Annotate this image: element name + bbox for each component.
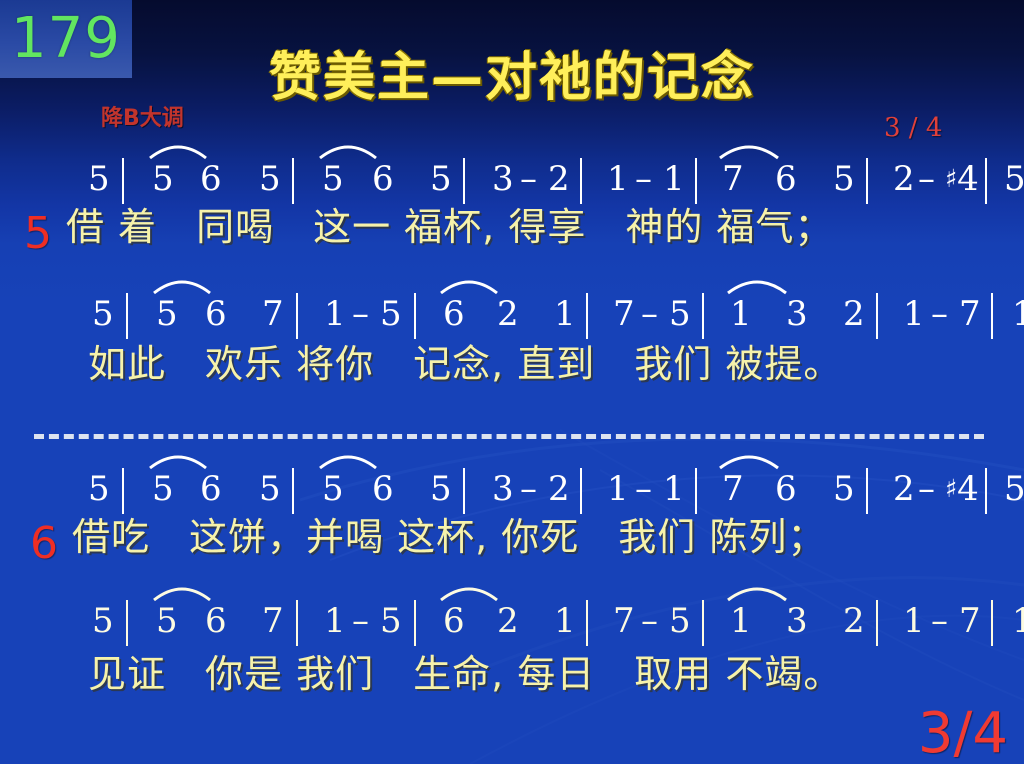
note-glyph: 2 (843, 601, 865, 641)
barline (702, 293, 704, 348)
note-glyph: 7 (959, 601, 981, 641)
note-glyph: 7 (613, 601, 635, 641)
note-1: 1 (324, 293, 346, 335)
note-2: 2 (497, 293, 519, 335)
note-glyph: 6 (200, 159, 222, 199)
note-1: 1 (730, 293, 752, 335)
barline (296, 600, 298, 655)
note-2: 2 (893, 468, 915, 510)
note-5: 5 (88, 468, 110, 510)
barline (985, 468, 987, 523)
note-glyph: 6 (372, 159, 394, 199)
slur-arc (318, 138, 378, 160)
duration-dash: – (352, 293, 369, 335)
note-glyph: 1 (663, 469, 685, 509)
barline (866, 158, 868, 213)
slur-arc (439, 273, 499, 295)
note-5: 5 (92, 600, 114, 642)
barline (586, 600, 588, 655)
barline (991, 293, 993, 348)
duration-dash: – (918, 468, 935, 510)
note-5: 5 (430, 468, 452, 510)
note-6: 6 (372, 158, 394, 200)
note-glyph: 3 (492, 469, 514, 509)
note-glyph: 5 (1004, 469, 1024, 509)
note-glyph: 4 (957, 469, 979, 509)
note-5: 5 (152, 158, 174, 200)
note-glyph: 3 (492, 159, 514, 199)
note-glyph: 1 (663, 159, 685, 199)
time-signature-top: 3 / 4 (884, 115, 942, 141)
note-6: 6 (775, 158, 797, 200)
barline (126, 600, 128, 655)
note-1: 1 (607, 158, 629, 200)
slur-arc (152, 273, 212, 295)
note-7: 7 (959, 600, 981, 642)
note-glyph: 5 (92, 294, 114, 334)
note-glyph: 1 (607, 469, 629, 509)
duration-dash: – (641, 293, 658, 335)
note-2: 2 (843, 293, 865, 335)
section-divider (34, 434, 984, 439)
note-sharp4: ♯4 (945, 468, 979, 510)
note-1: 1 (663, 158, 685, 200)
note-6: 6 (200, 468, 222, 510)
note-1: 1 (324, 600, 346, 642)
note-5: 5 (833, 158, 855, 200)
lyrics-row: 借吃 这饼，并喝 这杯, 你死 我们 陈列； (72, 518, 1022, 556)
note-glyph: 5 (88, 469, 110, 509)
barline (876, 600, 878, 655)
note-glyph: 7 (722, 159, 744, 199)
note-5: 5 (430, 158, 452, 200)
note-7: 7 (262, 293, 284, 335)
barline (866, 468, 868, 523)
note-7: 7 (613, 293, 635, 335)
note-5: 5 (669, 600, 691, 642)
note-glyph: 1 (730, 294, 752, 334)
note-7: 7 (959, 293, 981, 335)
note-5: 5 (669, 293, 691, 335)
note-glyph: 1 (324, 294, 346, 334)
note-glyph: 1 (1012, 294, 1024, 334)
note-5: 5 (1004, 158, 1024, 200)
duration-dash: – (635, 468, 652, 510)
note-glyph: 1 (554, 601, 576, 641)
note-5: 5 (259, 158, 281, 200)
barline (126, 293, 128, 348)
note-glyph: 1 (1012, 601, 1024, 641)
note-glyph: 5 (92, 601, 114, 641)
note-glyph: 7 (722, 469, 744, 509)
slur-arc (148, 448, 208, 470)
note-5: 5 (92, 293, 114, 335)
note-5: 5 (1004, 468, 1024, 510)
barline (876, 293, 878, 348)
note-glyph: 6 (775, 469, 797, 509)
note-glyph: 5 (156, 601, 178, 641)
note-glyph: 6 (205, 294, 227, 334)
note-1: 1 (1012, 293, 1024, 335)
duration-dash: – (352, 600, 369, 642)
note-glyph: 6 (443, 601, 465, 641)
note-glyph: 5 (380, 601, 402, 641)
note-6: 6 (775, 468, 797, 510)
note-glyph: 5 (430, 159, 452, 199)
note-glyph: 7 (613, 294, 635, 334)
note-glyph: 5 (152, 159, 174, 199)
note-glyph: 5 (669, 601, 691, 641)
note-5: 5 (152, 468, 174, 510)
duration-dash: – (635, 158, 652, 200)
slur-arc (726, 580, 788, 602)
note-3: 3 (492, 158, 514, 200)
note-glyph: 2 (893, 469, 915, 509)
note-glyph: 5 (259, 469, 281, 509)
duration-dash: – (918, 158, 935, 200)
note-1: 1 (554, 293, 576, 335)
note-5: 5 (259, 468, 281, 510)
note-5: 5 (322, 158, 344, 200)
note-glyph: 4 (957, 159, 979, 199)
note-6: 6 (443, 600, 465, 642)
note-1: 1 (903, 600, 925, 642)
barline (702, 600, 704, 655)
slide-canvas: 179 赞美主—对祂的记念 降B大调 3 / 4 555655653–21–17… (0, 0, 1024, 764)
lyrics-row: 如此 欢乐 将你 记念, 直到 我们 被提。 (88, 345, 1024, 383)
note-2: 2 (548, 468, 570, 510)
lyrics-row: 见证 你是 我们 生命, 每日 取用 不竭。 (88, 655, 1024, 693)
slur-arc (726, 273, 788, 295)
note-glyph: 2 (497, 294, 519, 334)
barline (414, 600, 416, 655)
barline (296, 293, 298, 348)
note-2: 2 (548, 158, 570, 200)
note-glyph: 7 (262, 601, 284, 641)
note-5: 5 (88, 158, 110, 200)
duration-dash: – (520, 468, 537, 510)
note-glyph: 5 (259, 159, 281, 199)
barline (991, 600, 993, 655)
note-glyph: 6 (205, 601, 227, 641)
note-glyph: 5 (380, 294, 402, 334)
note-5: 5 (156, 600, 178, 642)
note-glyph: 5 (833, 469, 855, 509)
note-1: 1 (730, 600, 752, 642)
note-5: 5 (322, 468, 344, 510)
note-glyph: 1 (554, 294, 576, 334)
note-glyph: 2 (893, 159, 915, 199)
duration-dash: – (931, 600, 948, 642)
key-signature-label: 降B大调 (101, 108, 184, 130)
slur-arc (718, 448, 780, 470)
barline (985, 158, 987, 213)
note-6: 6 (205, 293, 227, 335)
note-3: 3 (786, 600, 808, 642)
note-1: 1 (1012, 600, 1024, 642)
note-glyph: 2 (548, 159, 570, 199)
note-6: 6 (205, 600, 227, 642)
note-glyph: 5 (430, 469, 452, 509)
note-3: 3 (492, 468, 514, 510)
note-glyph: 6 (775, 159, 797, 199)
sharp-accidental: ♯ (945, 164, 957, 193)
note-glyph: 1 (607, 159, 629, 199)
note-glyph: 1 (903, 294, 925, 334)
note-glyph: 5 (156, 294, 178, 334)
note-1: 1 (607, 468, 629, 510)
note-5: 5 (380, 600, 402, 642)
slur-arc (148, 138, 208, 160)
barline (414, 293, 416, 348)
note-glyph: 5 (322, 469, 344, 509)
slur-arc (318, 448, 378, 470)
note-1: 1 (554, 600, 576, 642)
slur-arc (439, 580, 499, 602)
barline (586, 293, 588, 348)
note-glyph: 5 (669, 294, 691, 334)
note-glyph: 5 (833, 159, 855, 199)
note-glyph: 5 (88, 159, 110, 199)
note-1: 1 (663, 468, 685, 510)
time-signature-bottom: 3/4 (918, 705, 1008, 764)
note-glyph: 5 (1004, 159, 1024, 199)
duration-dash: – (641, 600, 658, 642)
note-glyph: 3 (786, 294, 808, 334)
note-2: 2 (893, 158, 915, 200)
note-1: 1 (903, 293, 925, 335)
note-7: 7 (722, 158, 744, 200)
note-2: 2 (497, 600, 519, 642)
note-glyph: 7 (262, 294, 284, 334)
note-glyph: 6 (200, 469, 222, 509)
note-glyph: 5 (152, 469, 174, 509)
page-title: 赞美主—对祂的记念 (0, 52, 1024, 104)
note-glyph: 6 (443, 294, 465, 334)
duration-dash: – (520, 158, 537, 200)
note-glyph: 7 (959, 294, 981, 334)
note-glyph: 1 (730, 601, 752, 641)
note-7: 7 (613, 600, 635, 642)
note-3: 3 (786, 293, 808, 335)
note-6: 6 (200, 158, 222, 200)
note-glyph: 1 (903, 601, 925, 641)
note-5: 5 (833, 468, 855, 510)
note-glyph: 3 (786, 601, 808, 641)
slur-arc (718, 138, 780, 160)
note-sharp4: ♯4 (945, 158, 979, 200)
note-glyph: 2 (497, 601, 519, 641)
note-6: 6 (372, 468, 394, 510)
duration-dash: – (931, 293, 948, 335)
note-7: 7 (722, 468, 744, 510)
note-glyph: 1 (324, 601, 346, 641)
note-5: 5 (156, 293, 178, 335)
note-6: 6 (443, 293, 465, 335)
note-2: 2 (843, 600, 865, 642)
note-glyph: 5 (322, 159, 344, 199)
note-glyph: 2 (843, 294, 865, 334)
note-glyph: 2 (548, 469, 570, 509)
note-glyph: 6 (372, 469, 394, 509)
slur-arc (152, 580, 212, 602)
lyrics-row: 借 着 同喝 这一 福杯, 得享 神的 福气； (66, 208, 1016, 246)
note-5: 5 (380, 293, 402, 335)
note-7: 7 (262, 600, 284, 642)
sharp-accidental: ♯ (945, 474, 957, 503)
